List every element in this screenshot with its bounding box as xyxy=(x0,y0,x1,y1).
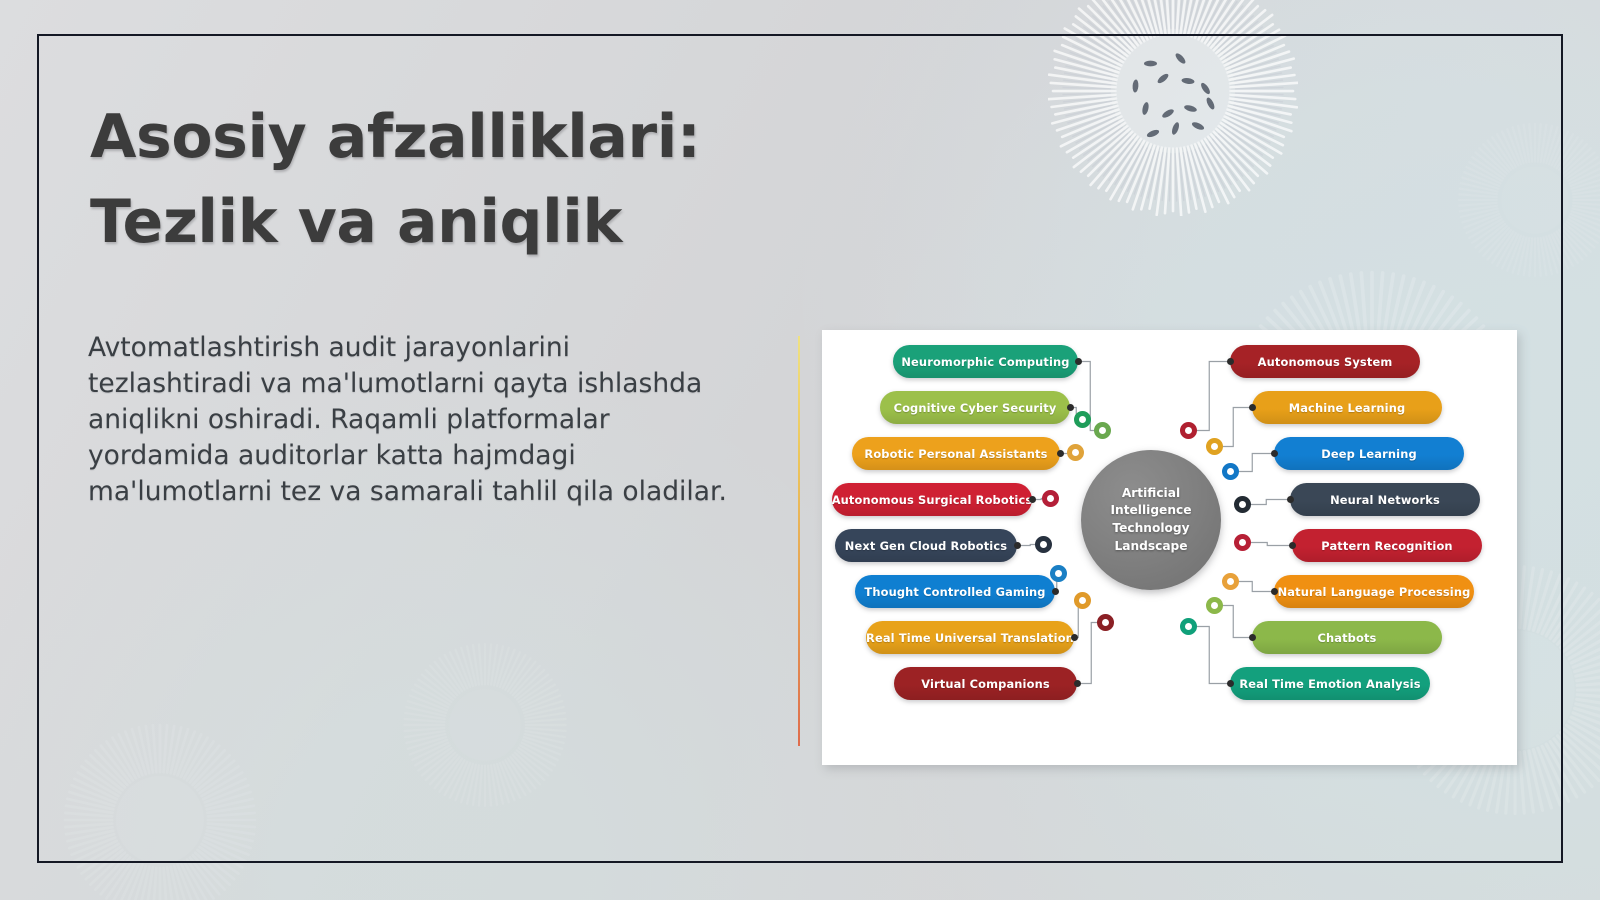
diagram-wire-tip xyxy=(1249,634,1256,641)
page-title: Asosiy afzalliklari: Tezlik va aniqlik xyxy=(90,95,850,265)
diagram-wire-tip xyxy=(1249,404,1256,411)
radial-burst-icon-corner xyxy=(1455,120,1600,280)
diagram-pill-label: Thought Controlled Gaming xyxy=(864,585,1045,599)
diagram-pill-left: Next Gen Cloud Robotics xyxy=(835,529,1017,562)
diagram-pill-left: Robotic Personal Assistants xyxy=(852,437,1060,470)
ai-landscape-diagram: Artificial Intelligence Technology Lands… xyxy=(822,330,1517,765)
diagram-pill-label: Neuromorphic Computing xyxy=(901,355,1069,369)
diagram-connector-node xyxy=(1206,597,1223,614)
diagram-wire-tip xyxy=(1014,542,1021,549)
diagram-hub: Artificial Intelligence Technology Lands… xyxy=(1081,450,1221,590)
diagram-pill-right: Neural Networks xyxy=(1290,483,1480,516)
diagram-connector-node xyxy=(1097,614,1114,631)
diagram-pill-label: Virtual Companions xyxy=(921,677,1050,691)
diagram-pill-label: Cognitive Cyber Security xyxy=(894,401,1057,415)
body-text: Avtomatlashtirish audit jarayonlarini te… xyxy=(88,330,728,510)
diagram-wire-tip xyxy=(1029,496,1036,503)
diagram-pill-right: Autonomous System xyxy=(1230,345,1420,378)
body-paragraph-2: ma'lumotlarni tez va samarali tahlil qil… xyxy=(88,474,728,510)
diagram-connector-node xyxy=(1094,422,1111,439)
diagram-connector-node xyxy=(1234,496,1251,513)
diagram-connector-node xyxy=(1067,444,1084,461)
diagram-connector-node xyxy=(1050,565,1067,582)
diagram-wire-tip xyxy=(1071,634,1078,641)
diagram-pill-label: Natural Language Processing xyxy=(1278,585,1471,599)
diagram-panel: Artificial Intelligence Technology Lands… xyxy=(822,330,1517,765)
diagram-wire-tip xyxy=(1227,680,1234,687)
diagram-connector-node xyxy=(1206,438,1223,455)
diagram-connector-node xyxy=(1074,592,1091,609)
hub-line-2: Technology xyxy=(1112,521,1189,535)
hub-line-1: Artificial Intelligence xyxy=(1111,486,1192,518)
vertical-divider xyxy=(798,336,800,746)
radial-burst-icon xyxy=(1048,0,1298,216)
diagram-connector-node xyxy=(1074,411,1091,428)
page-title-line2: Tezlik va aniqlik xyxy=(90,180,850,265)
diagram-wire-tip xyxy=(1074,680,1081,687)
diagram-pill-left: Neuromorphic Computing xyxy=(893,345,1078,378)
body-paragraph-1: Avtomatlashtirish audit jarayonlarini te… xyxy=(88,330,728,474)
diagram-pill-right: Real Time Emotion Analysis xyxy=(1230,667,1430,700)
diagram-connector-node xyxy=(1222,463,1239,480)
diagram-pill-right: Natural Language Processing xyxy=(1274,575,1474,608)
diagram-pill-label: Neural Networks xyxy=(1330,493,1440,507)
diagram-wire-tip xyxy=(1271,450,1278,457)
diagram-pill-label: Deep Learning xyxy=(1321,447,1417,461)
diagram-pill-left: Cognitive Cyber Security xyxy=(880,391,1070,424)
diagram-pill-right: Deep Learning xyxy=(1274,437,1464,470)
page-title-line1: Asosiy afzalliklari: xyxy=(90,102,700,172)
diagram-pill-label: Autonomous Surgical Robotics xyxy=(832,493,1033,507)
diagram-connector-node xyxy=(1222,573,1239,590)
diagram-pill-label: Pattern Recognition xyxy=(1321,539,1452,553)
radial-burst-icon-quaternary xyxy=(60,720,260,900)
diagram-pill-right: Machine Learning xyxy=(1252,391,1442,424)
diagram-pill-label: Autonomous System xyxy=(1258,355,1393,369)
diagram-wire-tip xyxy=(1057,450,1064,457)
diagram-wire-tip xyxy=(1075,358,1082,365)
diagram-pill-label: Next Gen Cloud Robotics xyxy=(845,539,1007,553)
diagram-pill-left: Thought Controlled Gaming xyxy=(855,575,1055,608)
diagram-pill-right: Chatbots xyxy=(1252,621,1442,654)
diagram-connector-node xyxy=(1035,536,1052,553)
diagram-connector-node xyxy=(1234,534,1251,551)
diagram-pill-label: Robotic Personal Assistants xyxy=(864,447,1047,461)
diagram-wire-tip xyxy=(1289,542,1296,549)
diagram-pill-label: Machine Learning xyxy=(1289,401,1406,415)
diagram-wire-tip xyxy=(1287,496,1294,503)
diagram-wire-tip xyxy=(1052,588,1059,595)
diagram-pill-left: Real Time Universal Translation xyxy=(866,621,1074,654)
radial-burst-icon-small xyxy=(400,640,570,810)
diagram-connector-node xyxy=(1042,490,1059,507)
diagram-wire-tip xyxy=(1271,588,1278,595)
diagram-connector-node xyxy=(1180,422,1197,439)
diagram-pill-label: Real Time Universal Translation xyxy=(866,631,1074,645)
diagram-pill-left: Virtual Companions xyxy=(894,667,1077,700)
diagram-pill-label: Chatbots xyxy=(1317,631,1376,645)
hub-line-3: Landscape xyxy=(1114,539,1187,553)
diagram-pill-label: Real Time Emotion Analysis xyxy=(1239,677,1420,691)
diagram-wire-tip xyxy=(1067,404,1074,411)
diagram-wire-tip xyxy=(1227,358,1234,365)
diagram-connector-node xyxy=(1180,618,1197,635)
diagram-pill-left: Autonomous Surgical Robotics xyxy=(832,483,1032,516)
diagram-pill-right: Pattern Recognition xyxy=(1292,529,1482,562)
